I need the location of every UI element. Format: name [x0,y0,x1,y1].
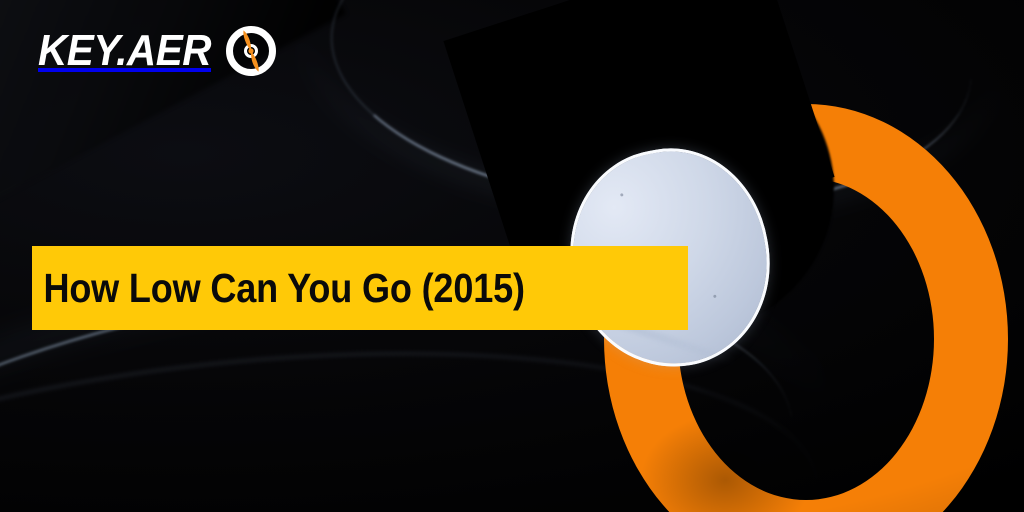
headline-band: How Low Can You Go (2015) [32,246,688,330]
page-title: How Low Can You Go (2015) [32,268,525,309]
article-hero-banner: KEY.AER How Low Can You Go (2015) [0,0,1024,512]
propeller-in-ring-icon [226,26,276,76]
keyaero-logo-wordmark: KEY.AER [38,29,211,73]
keyaero-logo[interactable]: KEY.AER [38,24,276,78]
